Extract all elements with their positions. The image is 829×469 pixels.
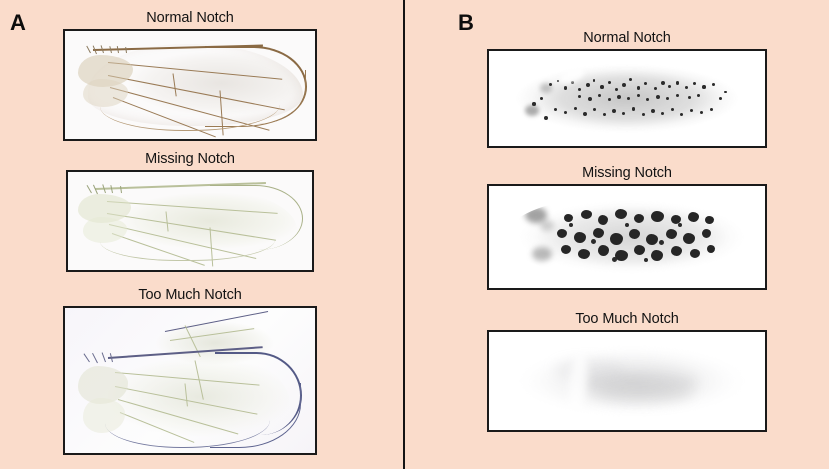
caption-a-too-much-notch: Too Much Notch [63,288,317,303]
caption-a-missing-notch: Missing Notch [66,152,314,167]
caption-b-normal-notch: Normal Notch [487,31,767,46]
image-frame-b-missing-notch [487,184,767,290]
panel-divider [403,0,405,469]
embryo-insitu-toomuch [489,332,765,430]
micrograph-wing-toomuch [65,308,315,453]
image-frame-a-missing-notch [66,170,314,272]
caption-a-normal-notch: Normal Notch [63,11,317,26]
embryo-insitu-normal [489,51,765,146]
image-frame-b-normal-notch [487,49,767,148]
micrograph-wing-normal [65,31,315,139]
panel-label-a: A [10,12,26,34]
image-frame-a-normal-notch [63,29,317,141]
micrograph-wing-missing [68,172,312,270]
panel-label-b: B [458,12,474,34]
image-frame-b-too-much-notch [487,330,767,432]
image-frame-a-too-much-notch [63,306,317,455]
caption-b-too-much-notch: Too Much Notch [487,312,767,327]
embryo-insitu-missing [489,186,765,288]
caption-b-missing-notch: Missing Notch [487,166,767,181]
figure-canvas: A Normal Notch [0,0,829,469]
